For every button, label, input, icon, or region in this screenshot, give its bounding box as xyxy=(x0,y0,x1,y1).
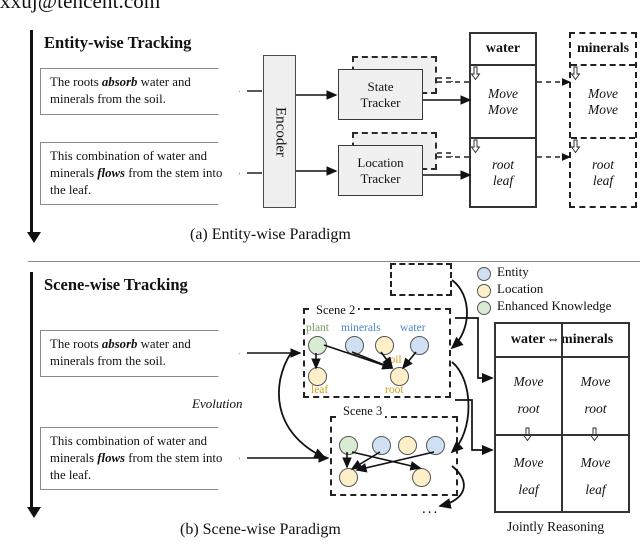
panel-b-caption: (b) Scene-wise Paradigm xyxy=(180,521,341,539)
panel-a-axis-line xyxy=(30,30,33,235)
result-header-right: minerals xyxy=(561,332,613,348)
scene-2-node-label-leaf: leaf xyxy=(311,384,328,396)
scene-2-node-label-plant: plant xyxy=(306,322,329,334)
scene-3-node-4 xyxy=(426,436,445,455)
panel-divider xyxy=(28,261,640,262)
panel-a-sentence-2: This combination of water and minerals f… xyxy=(40,142,240,205)
scene-2-node-minerals xyxy=(345,336,364,355)
legend-dot-location xyxy=(477,284,491,298)
panel-b-axis-arrowhead xyxy=(27,507,41,518)
down-arrow-icon xyxy=(571,67,580,80)
scene-2-node-leaf xyxy=(308,367,327,386)
scene-2-node-soil xyxy=(375,336,394,355)
state-tracker-box: StateTracker xyxy=(338,69,423,120)
legend-label-location: Location xyxy=(497,281,543,297)
down-arrow-icon xyxy=(471,67,480,80)
table-minerals-row-2: root leaf xyxy=(571,139,635,206)
bidirectional-arrow-icon: ⇔ xyxy=(546,332,560,348)
panel-b-axis-line xyxy=(30,272,33,510)
scene-3-node-6 xyxy=(412,468,431,487)
panel-a-title: Entity-wise Tracking xyxy=(44,33,191,53)
panel-a-axis-arrowhead xyxy=(27,232,41,243)
scene-2-tag: Scene 2 xyxy=(313,303,358,318)
scene-3-node-2 xyxy=(372,436,391,455)
evolution-label: Evolution xyxy=(192,396,243,412)
result-table-footer: Jointly Reasoning xyxy=(507,519,604,535)
panel-a-sentence-1: The roots absorb water and minerals from… xyxy=(40,68,240,115)
location-tracker-box: LocationTracker xyxy=(338,145,423,196)
encoder-label: Encoder xyxy=(271,107,288,157)
sentence-text: This combination of water and minerals f… xyxy=(50,149,222,197)
sentence-text: The roots absorb water and minerals from… xyxy=(50,75,191,106)
scene-2-node-plant xyxy=(308,336,327,355)
state-tracker-label: StateTracker xyxy=(361,79,401,110)
sentence-text: The roots absorb water and minerals from… xyxy=(50,337,191,368)
result-table-row-sep xyxy=(496,434,628,436)
result-cell-r2c1: Move leaf xyxy=(496,442,561,510)
result-table: water ⇔ minerals Move root Move root Mov… xyxy=(494,322,630,513)
table-water: water Move Move root leaf xyxy=(469,32,537,208)
scene-2-node-label-soil: soil xyxy=(385,354,402,366)
scene-2-node-label-water: water xyxy=(400,322,426,334)
legend-label-entity: Entity xyxy=(497,264,529,280)
sentence-text: This combination of water and minerals f… xyxy=(50,434,222,482)
legend-dot-entity xyxy=(477,267,491,281)
scene-2-node-label-minerals: minerals xyxy=(341,322,381,334)
table-minerals: minerals Move Move root leaf xyxy=(569,32,637,208)
result-cell-r1c2: Move root xyxy=(563,358,628,432)
result-cell-r2c2: Move leaf xyxy=(563,442,628,510)
clipped-header-text: xxuj@tencent.com xyxy=(0,0,300,15)
scene-2-node-root xyxy=(390,367,409,386)
panel-b-title: Scene-wise Tracking xyxy=(44,275,188,295)
scene-3-node-3 xyxy=(398,436,417,455)
legend-dot-enhanced-knowledge xyxy=(477,301,491,315)
result-cell-r1c1: Move root xyxy=(496,358,561,432)
table-minerals-row-1: Move Move xyxy=(571,66,635,137)
scene-3-tag: Scene 3 xyxy=(340,404,385,419)
scene-2-node-water xyxy=(410,336,429,355)
legend-label-enhanced-knowledge: Enhanced Knowledge xyxy=(497,298,611,314)
panel-b-sentence-2: This combination of water and minerals f… xyxy=(40,427,240,490)
panel-a-caption: (a) Entity-wise Paradigm xyxy=(190,226,351,244)
down-arrow-icon xyxy=(571,140,580,153)
table-water-row-1: Move Move xyxy=(471,66,535,137)
table-water-row-2: root leaf xyxy=(471,139,535,206)
location-tracker-label: LocationTracker xyxy=(357,155,403,186)
down-arrow-icon xyxy=(471,140,480,153)
result-header-left: water xyxy=(511,332,545,348)
panel-b-sentence-1: The roots absorb water and minerals from… xyxy=(40,330,240,377)
table-water-header: water xyxy=(471,34,535,64)
table-minerals-header: minerals xyxy=(571,34,635,64)
scene-3-node-5 xyxy=(339,468,358,487)
scene-ellipsis: ... xyxy=(422,501,439,518)
scene-3-node-1 xyxy=(339,436,358,455)
scene-1-box-partial xyxy=(390,263,452,296)
encoder-box: Encoder xyxy=(263,55,296,208)
